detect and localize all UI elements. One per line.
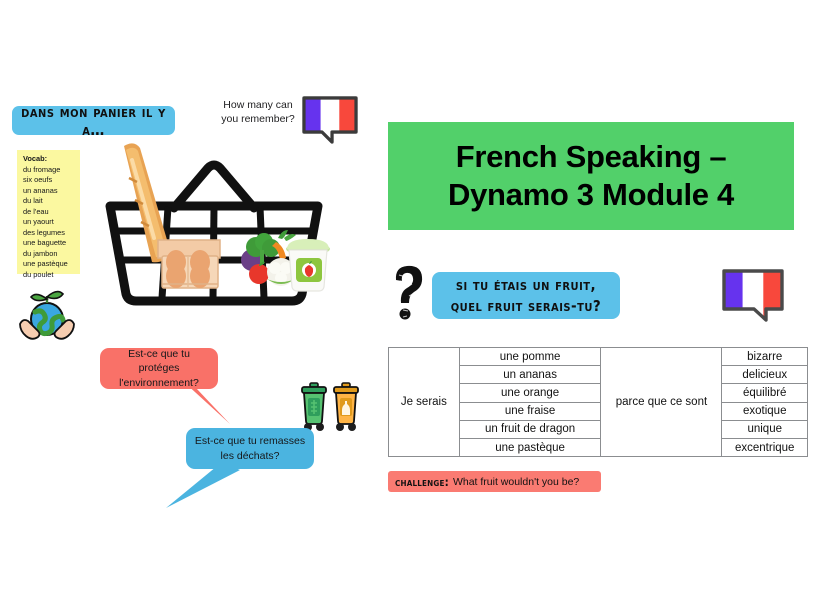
fruit-cell[interactable]: une pastèque xyxy=(459,438,601,456)
fruit-cell[interactable]: une pomme xyxy=(459,348,601,366)
environment-question-red-text: Est-ce que tu protéges l'environnement? xyxy=(100,348,218,389)
adjective-cell[interactable]: excentrique xyxy=(722,438,808,456)
french-flag-speech-bubble-icon xyxy=(722,269,784,322)
fruit-question-line-1: Si tu étais un fruit, xyxy=(451,275,601,295)
slide-canvas: Dans mon panier il y a… Vocab: du fromag… xyxy=(0,0,817,612)
vocab-item: une baguette xyxy=(23,238,75,249)
egg-carton-icon xyxy=(158,240,220,288)
vocab-item: un ananas xyxy=(23,186,75,197)
challenge-banner: Challenge: What fruit wouldn't you be? xyxy=(388,471,601,492)
green-bin-icon xyxy=(302,383,326,431)
fruit-cell[interactable]: un fruit de dragon xyxy=(459,420,601,438)
orange-bin-icon xyxy=(334,383,358,431)
fruit-cell[interactable]: une fraise xyxy=(459,402,601,420)
stem-right-cell: parce que ce sont xyxy=(601,348,722,457)
environment-question-bubble-blue: Est-ce que tu remasses les déchats? xyxy=(166,428,316,510)
fruit-question-line-2: quel fruit serais-tu? xyxy=(451,296,601,316)
fruit-cell[interactable]: un ananas xyxy=(459,366,601,384)
vocab-item: six oeufs xyxy=(23,175,75,186)
table-row: Je serais une pomme parce que ce sont bi… xyxy=(389,348,808,366)
recycling-bins-icon xyxy=(300,378,362,434)
yogurt-pot-icon xyxy=(286,239,330,291)
challenge-text: What fruit wouldn't you be? xyxy=(453,476,579,488)
question-mark-icon xyxy=(388,263,428,325)
sentence-builder-table: Je serais une pomme parce que ce sont bi… xyxy=(388,347,808,457)
vocab-item: de l'eau xyxy=(23,207,75,218)
vocab-heading: Vocab: xyxy=(23,154,75,165)
vocab-item: une pastèque xyxy=(23,259,75,270)
shopping-basket-icon xyxy=(96,138,332,306)
vocab-item: des legumes xyxy=(23,228,75,239)
vocab-item: du lait xyxy=(23,196,75,207)
vocab-list: du fromage six oeufs un ananas du lait d… xyxy=(23,165,75,281)
fruit-cell[interactable]: une orange xyxy=(459,384,601,402)
adjective-cell[interactable]: unique xyxy=(722,420,808,438)
vocab-item: du poulet xyxy=(23,270,75,281)
adjective-cell[interactable]: bizarre xyxy=(722,348,808,366)
adjective-cell[interactable]: exotique xyxy=(722,402,808,420)
slide-title-banner: French Speaking – Dynamo 3 Module 4 xyxy=(388,122,794,230)
french-flag-speech-bubble-icon xyxy=(302,96,358,144)
environment-question-blue-text: Est-ce que tu remasses les déchats? xyxy=(186,428,314,469)
vocab-note: Vocab: du fromage six oeufs un ananas du… xyxy=(17,150,80,274)
vocab-item: du jambon xyxy=(23,249,75,260)
stem-left-cell: Je serais xyxy=(389,348,460,457)
fruit-question-label: Si tu étais un fruit, quel fruit serais-… xyxy=(432,272,620,319)
adjective-cell[interactable]: équilibré xyxy=(722,384,808,402)
page-title-line-1: French Speaking – xyxy=(456,138,727,176)
page-title-line-2: Dynamo 3 Module 4 xyxy=(448,176,734,214)
environment-question-bubble-red: Est-ce que tu protéges l'environnement? xyxy=(100,348,236,426)
vocab-item: un yaourt xyxy=(23,217,75,228)
dans-mon-panier-label: Dans mon panier il y a… xyxy=(12,106,175,135)
vocab-item: du fromage xyxy=(23,165,75,176)
how-many-prompt: How many can you remember? xyxy=(216,98,300,126)
adjective-cell[interactable]: delicieux xyxy=(722,366,808,384)
hands-holding-earth-icon xyxy=(18,288,76,344)
challenge-word: Challenge: xyxy=(395,475,449,489)
